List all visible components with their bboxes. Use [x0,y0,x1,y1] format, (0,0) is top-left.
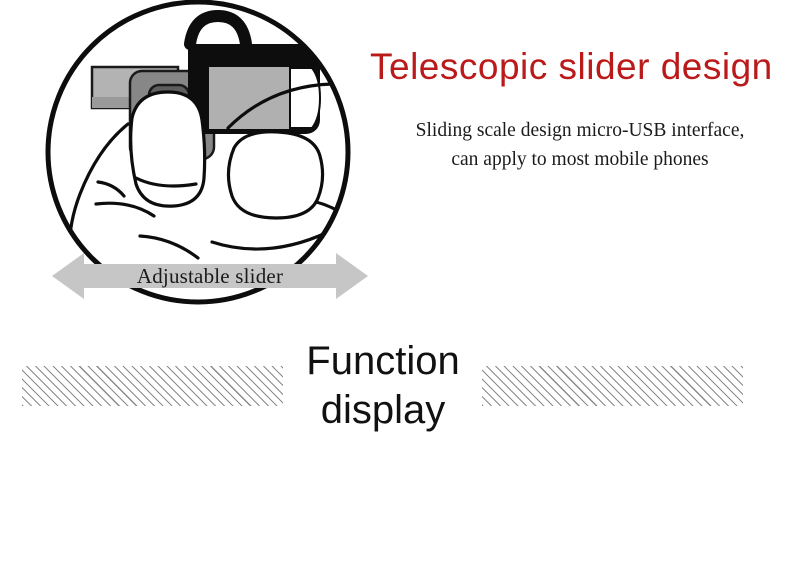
adjustable-slider-label: Adjustable slider [52,258,368,294]
page-subtitle-line-2: can apply to most mobile phones [362,145,798,174]
section-title-line-2: display [285,386,481,435]
product-feature-page: Adjustable slider Telescopic slider desi… [0,0,800,569]
hatch-bar-left [22,366,283,406]
page-subtitle: Sliding scale design micro-USB interface… [362,116,798,174]
section-title-line-1: Function [285,337,481,386]
hatch-bar-right [482,366,743,406]
page-title: Telescopic slider design [370,46,794,88]
section-title-function-display: Function display [285,337,481,435]
page-subtitle-line-1: Sliding scale design micro-USB interface… [362,116,798,145]
